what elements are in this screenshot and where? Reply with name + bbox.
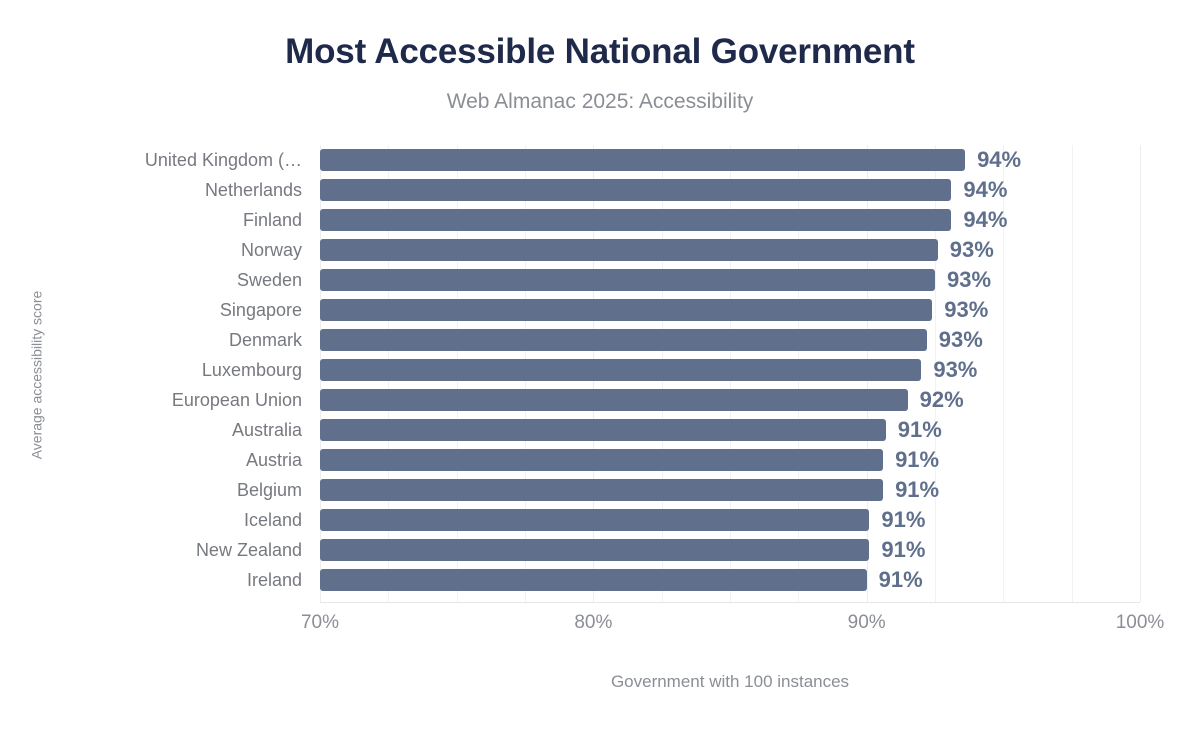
bar[interactable] [320, 569, 867, 591]
x-axis-tick-label: 70% [260, 612, 380, 634]
x-axis-tick-label: 80% [533, 612, 653, 634]
bars-layer: 94%94%94%93%93%93%93%93%92%91%91%91%91%9… [320, 145, 1140, 602]
bar-row[interactable]: 93% [320, 295, 1140, 325]
y-axis-tick-label: Sweden [237, 265, 302, 295]
y-axis-tick-label: Finland [243, 205, 302, 235]
bar[interactable] [320, 359, 921, 381]
y-axis-tick-label: United Kingdom (… [145, 145, 302, 175]
bar-value-label: 93% [927, 326, 983, 354]
bar[interactable] [320, 209, 951, 231]
bar-value-label: 94% [951, 176, 1007, 204]
y-axis-tick-label: Luxembourg [202, 355, 302, 385]
chart-title: Most Accessible National Government [0, 32, 1200, 72]
bar-value-label: 91% [886, 416, 942, 444]
y-axis-tick-label: Ireland [247, 565, 302, 595]
bar-row[interactable]: 91% [320, 445, 1140, 475]
bar[interactable] [320, 389, 908, 411]
bar[interactable] [320, 149, 965, 171]
bar-row[interactable]: 94% [320, 145, 1140, 175]
y-axis-title-text: Average accessibility score [28, 291, 44, 460]
bar[interactable] [320, 419, 886, 441]
bar-row[interactable]: 94% [320, 175, 1140, 205]
bar-row[interactable]: 93% [320, 355, 1140, 385]
chart-subtitle: Web Almanac 2025: Accessibility [0, 90, 1200, 114]
y-axis-tick-label: Austria [246, 445, 302, 475]
y-axis-tick-label: Iceland [244, 505, 302, 535]
bar-row[interactable]: 92% [320, 385, 1140, 415]
bar[interactable] [320, 299, 932, 321]
x-axis-tick-labels: 70%80%90%100% [0, 612, 1200, 642]
y-axis-title: Average accessibility score [22, 150, 50, 600]
bar-value-label: 93% [938, 236, 994, 264]
bar-row[interactable]: 91% [320, 415, 1140, 445]
bar-row[interactable]: 93% [320, 325, 1140, 355]
x-axis-title: Government with 100 instances [320, 672, 1140, 692]
bar-value-label: 92% [908, 386, 964, 414]
bar[interactable] [320, 449, 883, 471]
y-axis-tick-label: Australia [232, 415, 302, 445]
bar-row[interactable]: 93% [320, 265, 1140, 295]
bar-row[interactable]: 91% [320, 475, 1140, 505]
bar[interactable] [320, 329, 927, 351]
bar[interactable] [320, 269, 935, 291]
bar-value-label: 93% [935, 266, 991, 294]
bar-chart-figure: Most Accessible National Government Web … [0, 0, 1200, 742]
x-axis-tick-label: 90% [807, 612, 927, 634]
y-axis-tick-label: Norway [241, 235, 302, 265]
y-axis-tick-label: European Union [172, 385, 302, 415]
bar-value-label: 93% [921, 356, 977, 384]
gridline-major [1140, 145, 1141, 602]
bar[interactable] [320, 179, 951, 201]
y-axis-tick-label: Singapore [220, 295, 302, 325]
bar[interactable] [320, 509, 869, 531]
bar-value-label: 91% [869, 506, 925, 534]
bar[interactable] [320, 539, 869, 561]
bar[interactable] [320, 239, 938, 261]
bar-value-label: 93% [932, 296, 988, 324]
bar-row[interactable]: 93% [320, 235, 1140, 265]
bar-row[interactable]: 91% [320, 505, 1140, 535]
bar-value-label: 94% [951, 206, 1007, 234]
bar-value-label: 94% [965, 146, 1021, 174]
bar-row[interactable]: 91% [320, 565, 1140, 595]
bar[interactable] [320, 479, 883, 501]
y-axis-tick-labels: United Kingdom (…NetherlandsFinlandNorwa… [60, 145, 312, 602]
bar-row[interactable]: 94% [320, 205, 1140, 235]
bar-value-label: 91% [867, 566, 923, 594]
bar-value-label: 91% [869, 536, 925, 564]
y-axis-tick-label: Belgium [237, 475, 302, 505]
bar-value-label: 91% [883, 446, 939, 474]
y-axis-tick-label: Netherlands [205, 175, 302, 205]
bar-row[interactable]: 91% [320, 535, 1140, 565]
bar-value-label: 91% [883, 476, 939, 504]
x-axis-tick-label: 100% [1080, 612, 1200, 634]
y-axis-tick-label: Denmark [229, 325, 302, 355]
y-axis-tick-label: New Zealand [196, 535, 302, 565]
plot-area: 94%94%94%93%93%93%93%93%92%91%91%91%91%9… [320, 145, 1140, 602]
x-axis-line [320, 602, 1140, 603]
